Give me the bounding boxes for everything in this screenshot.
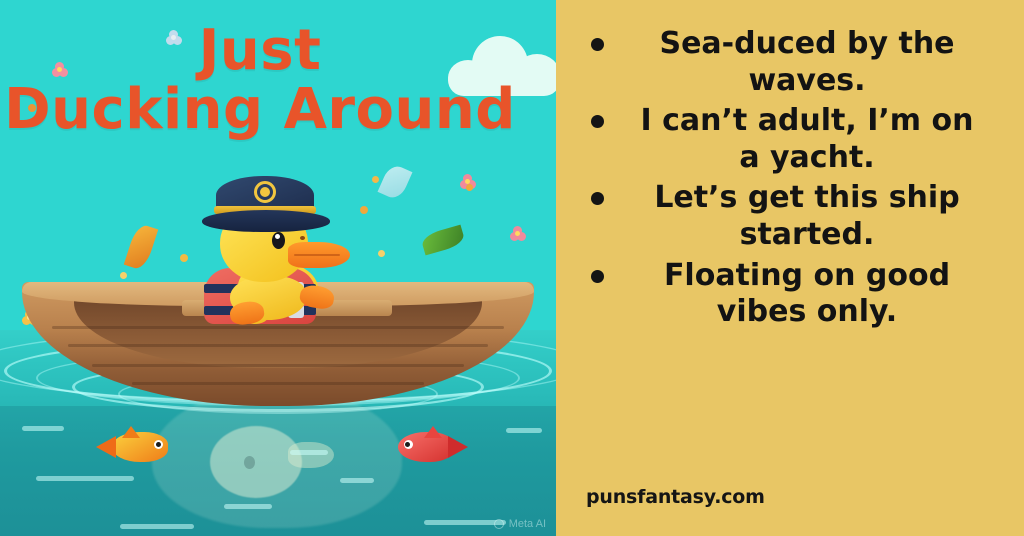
meta-ai-ring-icon bbox=[494, 519, 504, 529]
dot-decoration bbox=[466, 184, 473, 191]
boat-plank bbox=[92, 364, 464, 367]
duck-eye-highlight bbox=[275, 234, 280, 239]
bullet-icon bbox=[591, 192, 604, 205]
meta-ai-label: Meta AI bbox=[509, 518, 546, 530]
wavelet bbox=[22, 426, 64, 431]
dot-decoration bbox=[180, 254, 188, 262]
bullet-icon bbox=[591, 115, 604, 128]
wavelet bbox=[120, 524, 194, 529]
dot-decoration bbox=[378, 250, 385, 257]
wavelet bbox=[506, 428, 542, 433]
pun-text: Floating on good vibes only. bbox=[626, 258, 1002, 331]
bullet-icon bbox=[591, 38, 604, 51]
hat-brim bbox=[202, 210, 330, 232]
meta-ai-watermark: Meta AI bbox=[494, 518, 546, 530]
duck-captain bbox=[196, 176, 372, 318]
flower-decoration bbox=[510, 226, 526, 242]
bullet-icon bbox=[591, 270, 604, 283]
dot-decoration bbox=[28, 104, 36, 112]
cloud-icon bbox=[448, 34, 556, 96]
duck-reflection-beak bbox=[288, 442, 334, 468]
wavelet bbox=[290, 450, 328, 455]
list-item: Sea-duced by the waves. bbox=[586, 26, 1002, 99]
pun-list-panel: Sea-duced by the waves. I can’t adult, I… bbox=[556, 0, 1024, 536]
list-item: Let’s get this ship started. bbox=[586, 180, 1002, 253]
list-item: Floating on good vibes only. bbox=[586, 258, 1002, 331]
pun-text: Sea-duced by the waves. bbox=[626, 26, 1002, 99]
dot-decoration bbox=[372, 176, 379, 183]
duck-nostril bbox=[300, 236, 305, 240]
dot-decoration bbox=[120, 272, 127, 279]
site-credit[interactable]: punsfantasy.com bbox=[586, 486, 765, 508]
duck-beak-line bbox=[294, 254, 340, 256]
pun-poster: Just Ducking Around bbox=[0, 0, 1024, 536]
duck-reflection-eye bbox=[244, 456, 255, 469]
wavelet bbox=[224, 504, 272, 509]
boat-plank bbox=[68, 344, 488, 347]
flower-decoration bbox=[166, 30, 182, 46]
captain-hat bbox=[202, 176, 330, 230]
pun-text: Let’s get this ship started. bbox=[626, 180, 1002, 253]
pun-text: I can’t adult, I’m on a yacht. bbox=[626, 103, 1002, 176]
orange-fish-icon bbox=[96, 428, 174, 468]
wavelet bbox=[340, 478, 374, 483]
red-fish-icon bbox=[390, 428, 468, 468]
boat-plank bbox=[52, 326, 504, 329]
list-item: I can’t adult, I’m on a yacht. bbox=[586, 103, 1002, 176]
pun-list: Sea-duced by the waves. I can’t adult, I… bbox=[586, 26, 1002, 331]
boat-plank bbox=[132, 382, 424, 385]
wavelet bbox=[36, 476, 134, 481]
flower-decoration bbox=[52, 62, 68, 78]
illustration-panel: Just Ducking Around bbox=[0, 0, 556, 536]
hat-emblem-center bbox=[260, 187, 270, 197]
